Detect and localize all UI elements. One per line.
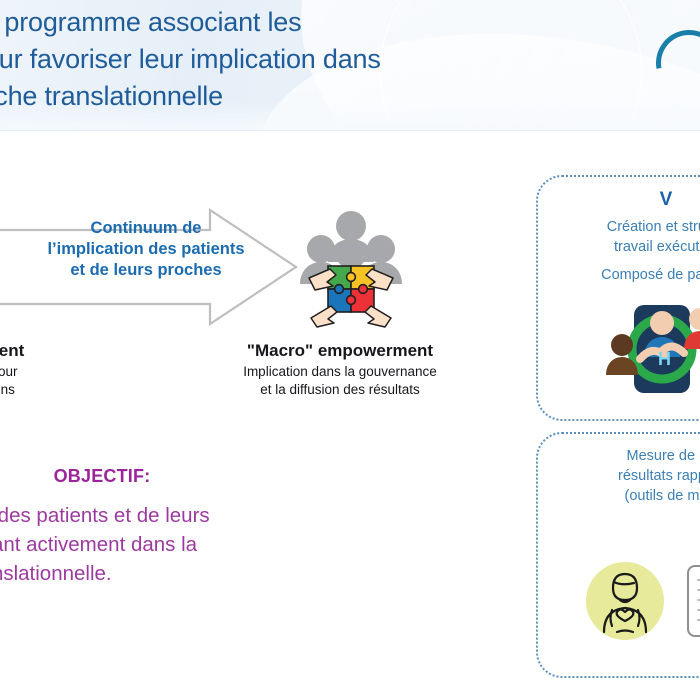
svg-text:H: H (658, 349, 671, 369)
continuum-arrow-label: Continuum de l’implication des patients … (0, 218, 292, 281)
panel-1-text-line2: Composé de patient (538, 265, 700, 285)
stage-macro-empowerment: "Macro" empowerment Implication dans la … (190, 340, 490, 399)
stage-micro-title: ment (0, 340, 104, 362)
stage-macro-title: "Macro" empowerment (190, 340, 490, 362)
panel-2-icon-row (586, 556, 700, 646)
objectif-body: engagement des patients et de leurs n le… (0, 501, 438, 588)
header-banner: ation d’un programme associant les roche… (0, 0, 700, 131)
page-title: ation d’un programme associant les roche… (0, 4, 672, 115)
panel-volet-1: V Création et structu travail exécutif c… (536, 175, 700, 421)
stage-micro-empowerment: ment pour ons (0, 340, 104, 399)
objectif-title: OBJECTIF: (0, 466, 292, 487)
puzzle-people-icon (297, 206, 405, 332)
teamwork-people-icon: H (600, 289, 700, 409)
header-divider (0, 130, 700, 131)
questionnaire-form-icon (686, 564, 700, 638)
panel-1-text-line1: Création et structu travail exécutif c (538, 217, 700, 257)
panel-1-heading: V (538, 189, 700, 211)
panel-2-text-line1: Mesure de l’ résultats rappo (outils de … (538, 446, 700, 506)
panel-volet-2: Mesure de l’ résultats rappo (outils de … (536, 432, 700, 678)
patient-avatar-icon (586, 562, 664, 640)
stage-macro-subtitle: Implication dans la gouvernance et la di… (190, 363, 490, 399)
stage-micro-subtitle: pour ons (0, 363, 104, 399)
